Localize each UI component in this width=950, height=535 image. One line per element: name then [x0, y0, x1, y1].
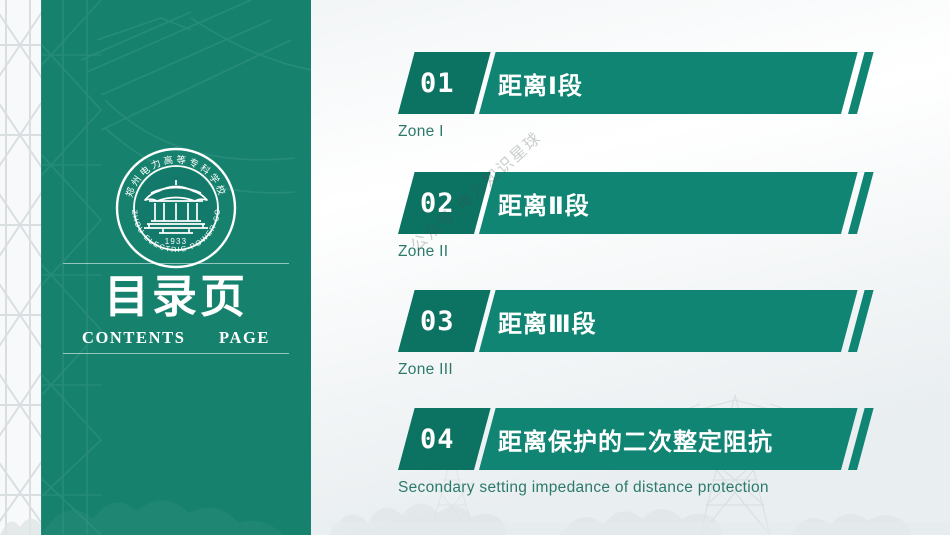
item-number: 04 — [420, 408, 455, 470]
list-item[interactable]: 02 距离Ⅱ段 Zone II — [398, 172, 868, 261]
item-title-cn: 距离保护的二次整定阻抗 — [498, 408, 773, 470]
list-item[interactable]: 03 距离Ⅲ段 Zone III — [398, 290, 868, 379]
item-subtitle-en: Zone II — [398, 243, 868, 261]
item-subtitle-en: Zone III — [398, 361, 868, 379]
contents-list: 01 距离Ⅰ段 Zone I 02 距离Ⅱ段 Zone II 03 — [0, 0, 950, 535]
item-number: 01 — [420, 52, 455, 114]
item-number: 02 — [420, 172, 455, 234]
presentation-slide: 郑州电力高等专科学校 ZHENGZHOU ELECTRIC POWER COLL… — [0, 0, 950, 535]
contents-bar[interactable]: 02 距离Ⅱ段 — [398, 172, 868, 234]
item-number: 03 — [420, 290, 455, 352]
contents-bar[interactable]: 03 距离Ⅲ段 — [398, 290, 868, 352]
item-title-cn: 距离Ⅱ段 — [498, 172, 590, 234]
contents-bar[interactable]: 01 距离Ⅰ段 — [398, 52, 868, 114]
list-item[interactable]: 04 距离保护的二次整定阻抗 Secondary setting impedan… — [398, 408, 868, 497]
item-title-cn: 距离Ⅲ段 — [498, 290, 597, 352]
list-item[interactable]: 01 距离Ⅰ段 Zone I — [398, 52, 868, 141]
item-title-cn: 距离Ⅰ段 — [498, 52, 583, 114]
contents-bar[interactable]: 04 距离保护的二次整定阻抗 — [398, 408, 868, 470]
item-subtitle-en: Secondary setting impedance of distance … — [398, 479, 868, 497]
item-subtitle-en: Zone I — [398, 123, 868, 141]
